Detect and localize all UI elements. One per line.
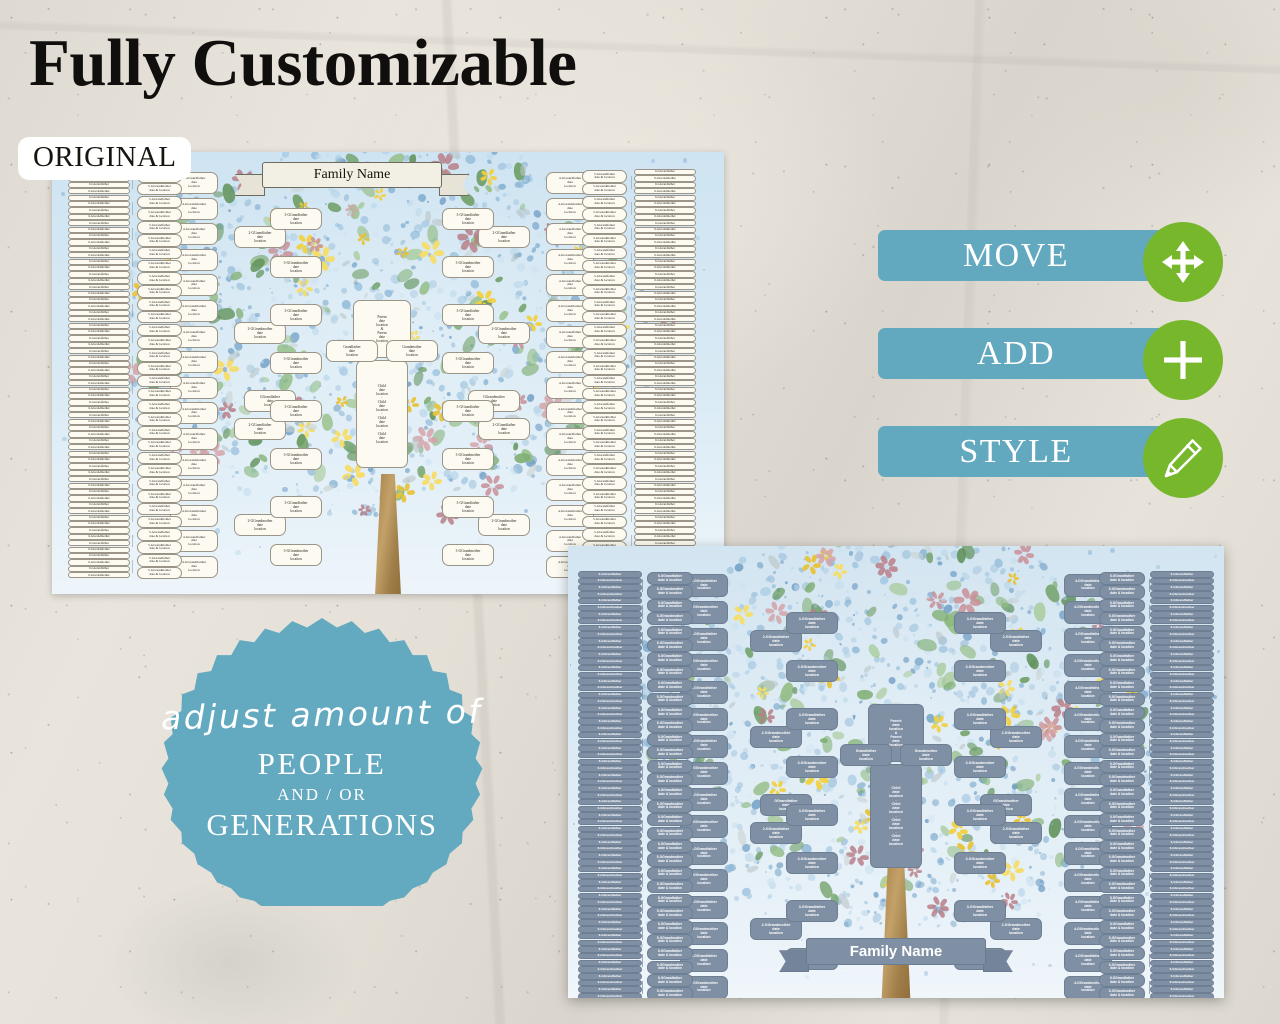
name-box[interactable]: 5-GGrandfatherdate & location — [1099, 786, 1145, 799]
name-box[interactable]: 6-GGrandmother — [578, 980, 642, 987]
name-box[interactable]: 6-GGrandfather — [68, 310, 130, 316]
name-box[interactable]: 6-GGrandfather — [68, 233, 130, 239]
name-box[interactable]: 6-GGrandfather — [1150, 651, 1214, 658]
name-box[interactable]: 6-GGrandfather — [578, 866, 642, 873]
name-box[interactable]: 6-GGrandmother — [634, 521, 696, 527]
name-box[interactable]: 5-GGrandmotherdate & location — [647, 880, 693, 893]
name-box[interactable]: 3-GGrandmotherdatelocation — [442, 448, 494, 470]
name-box[interactable]: 5-GGrandmotherdate & location — [1099, 585, 1145, 598]
name-box[interactable]: 3-GGrandfatherdatelocation — [270, 400, 322, 422]
name-box[interactable]: 6-GGrandfather — [634, 169, 696, 175]
name-box[interactable]: 6-GGrandfather — [578, 625, 642, 632]
family-tree-chart-styled[interactable]: Childdatelocation-Childdatelocation-Chil… — [568, 546, 1224, 998]
name-box[interactable]: 6-GGrandmother — [1150, 631, 1214, 638]
name-box[interactable]: 6-GGrandfather — [634, 348, 696, 354]
name-box[interactable]: 6-GGrandfather — [634, 271, 696, 277]
name-box[interactable]: 6-GGrandfather — [1150, 638, 1214, 645]
name-box[interactable]: 6-GGrandfather — [68, 297, 130, 303]
name-box[interactable]: 6-GGrandfather — [578, 571, 642, 578]
name-box[interactable]: 6-GGrandmother — [68, 316, 130, 322]
name-box[interactable]: 6-GGrandfather — [578, 678, 642, 685]
name-box[interactable]: 6-GGrandmother — [1150, 993, 1214, 998]
name-box[interactable]: 6-GGrandfather — [578, 986, 642, 993]
name-box[interactable]: 6-GGrandfather — [634, 387, 696, 393]
name-box[interactable]: 6-GGrandmother — [634, 227, 696, 233]
name-box[interactable]: 6-GGrandfather — [634, 284, 696, 290]
name-box[interactable]: 6-GGrandfather — [634, 233, 696, 239]
name-box[interactable]: 3-GGrandfatherdatelocation — [442, 400, 494, 422]
name-box[interactable]: 6-GGrandmother — [634, 278, 696, 284]
name-box[interactable]: 6-GGrandfather — [634, 515, 696, 521]
name-box[interactable]: 6-GGrandmother — [1150, 832, 1214, 839]
name-box[interactable]: 6-GGrandmother — [68, 457, 130, 463]
name-box[interactable]: 5-GGrandfatherdate & location — [1099, 867, 1145, 880]
name-box[interactable]: 6-GGrandfather — [1150, 745, 1214, 752]
name-box[interactable]: 5-GGrandfatherdate & location — [647, 572, 693, 585]
name-box[interactable]: 5-GGrandmotherdate & location — [137, 311, 182, 324]
name-box[interactable]: 6-GGrandfather — [68, 195, 130, 201]
name-box[interactable]: 5-GGrandfatherdate & location — [1099, 706, 1145, 719]
name-box[interactable]: 5-GGrandfatherdate & location — [647, 706, 693, 719]
name-box[interactable]: 5-GGrandmotherdate & location — [137, 208, 182, 221]
name-box[interactable]: 5-GGrandfatherdate & location — [582, 452, 627, 465]
name-box[interactable]: 6-GGrandmother — [634, 188, 696, 194]
name-box[interactable]: 5-GGrandmotherdate & location — [647, 800, 693, 813]
name-box[interactable]: 6-GGrandfather — [634, 451, 696, 457]
name-box[interactable]: 5-GGrandfatherdate & location — [137, 298, 182, 311]
name-box[interactable]: 6-GGrandfather — [634, 438, 696, 444]
name-box[interactable]: 6-GGrandfather — [578, 692, 642, 699]
name-box[interactable]: 5-GGrandmotherdate & location — [582, 208, 627, 221]
name-box[interactable]: 6-GGrandmother — [1150, 806, 1214, 813]
name-box[interactable]: Grandfatherdatelocation — [326, 340, 378, 362]
name-box[interactable]: 6-GGrandmother — [68, 342, 130, 348]
name-box[interactable]: 6-GGrandmother — [1150, 578, 1214, 585]
name-box[interactable]: 6-GGrandmother — [634, 431, 696, 437]
name-box[interactable]: 5-GGrandmotherdate & location — [1099, 746, 1145, 759]
name-box[interactable]: 6-GGrandmother — [1150, 859, 1214, 866]
name-box[interactable]: 5-GGrandmotherdate & location — [647, 666, 693, 679]
name-box[interactable]: 6-GGrandmother — [634, 483, 696, 489]
name-box[interactable]: 6-GGrandmother — [578, 926, 642, 933]
name-box[interactable]: 6-GGrandfather — [68, 271, 130, 277]
name-box[interactable]: 6-GGrandfather — [68, 515, 130, 521]
name-box[interactable]: 3-GGrandfatherdatelocation — [954, 708, 1006, 730]
style-button[interactable]: STYLE — [878, 426, 1168, 477]
name-box[interactable]: 5-GGrandmotherdate & location — [647, 907, 693, 920]
name-box[interactable]: 6-GGrandfather — [634, 463, 696, 469]
name-box[interactable]: 6-GGrandmother — [68, 380, 130, 386]
name-box[interactable]: 6-GGrandmother — [634, 495, 696, 501]
name-box[interactable]: 6-GGrandfather — [578, 611, 642, 618]
name-box[interactable]: 5-GGrandmotherdate & location — [1099, 666, 1145, 679]
name-box[interactable]: 6-GGrandmother — [578, 819, 642, 826]
name-box[interactable]: 5-GGrandmotherdate & location — [647, 719, 693, 732]
name-box[interactable]: 6-GGrandmother — [634, 316, 696, 322]
name-box[interactable]: 6-GGrandfather — [1150, 973, 1214, 980]
name-box[interactable]: 5-GGrandmotherdate & location — [137, 413, 182, 426]
name-box[interactable]: 6-GGrandmother — [1150, 873, 1214, 880]
name-box[interactable]: 6-GGrandmother — [1150, 591, 1214, 598]
name-box[interactable]: 6-GGrandmother — [634, 239, 696, 245]
name-box[interactable]: 5-GGrandfatherdate & location — [137, 477, 182, 490]
name-box[interactable]: 5-GGrandfatherdate & location — [647, 813, 693, 826]
name-box[interactable]: 6-GGrandmother — [578, 739, 642, 746]
family-name-banner[interactable]: Family Name — [262, 162, 442, 188]
name-box[interactable]: 6-GGrandmother — [68, 367, 130, 373]
name-box[interactable]: 6-GGrandfather — [578, 759, 642, 766]
name-box[interactable]: 6-GGrandfather — [1150, 705, 1214, 712]
name-box[interactable]: 5-GGrandfatherdate & location — [137, 554, 182, 567]
name-box[interactable]: 6-GGrandfather — [634, 489, 696, 495]
name-box[interactable]: 5-GGrandfatherdate & location — [582, 503, 627, 516]
name-box[interactable]: 6-GGrandfather — [578, 812, 642, 819]
name-box[interactable]: 6-GGrandfather — [578, 785, 642, 792]
name-box[interactable]: 6-GGrandfather — [578, 839, 642, 846]
name-box[interactable]: 6-GGrandfather — [68, 348, 130, 354]
name-box[interactable]: 3-GGrandmotherdatelocation — [442, 256, 494, 278]
name-box[interactable]: 6-GGrandmother — [634, 406, 696, 412]
name-box[interactable]: 6-GGrandfather — [68, 374, 130, 380]
name-box[interactable]: 6-GGrandmother — [1150, 940, 1214, 947]
name-box[interactable]: 6-GGrandfather — [578, 705, 642, 712]
name-box[interactable]: 5-GGrandfatherdate & location — [582, 170, 627, 183]
name-box[interactable]: 3-GGrandmotherdatelocation — [270, 544, 322, 566]
name-box[interactable]: 5-GGrandfatherdate & location — [647, 840, 693, 853]
name-box[interactable]: 5-GGrandmotherdate & location — [1099, 639, 1145, 652]
name-box[interactable]: 6-GGrandmother — [68, 521, 130, 527]
name-box[interactable]: 5-GGrandmotherdate & location — [582, 413, 627, 426]
name-box[interactable]: 5-GGrandfatherdate & location — [1099, 733, 1145, 746]
name-box[interactable]: 5-GGrandfatherdate & location — [137, 528, 182, 541]
name-box[interactable]: 6-GGrandfather — [1150, 678, 1214, 685]
name-box[interactable]: 6-GGrandmother — [634, 342, 696, 348]
name-box[interactable]: 5-GGrandfatherdate & location — [582, 272, 627, 285]
name-box[interactable]: 5-GGrandfatherdate & location — [582, 196, 627, 209]
name-box[interactable]: 6-GGrandfather — [578, 919, 642, 926]
name-box[interactable]: 6-GGrandmother — [634, 380, 696, 386]
name-box[interactable]: 6-GGrandmother — [68, 291, 130, 297]
name-box[interactable]: 6-GGrandfather — [578, 732, 642, 739]
name-box[interactable]: 3-GGrandfatherdatelocation — [954, 804, 1006, 826]
name-box[interactable]: 3-GGrandfatherdatelocation — [786, 900, 838, 922]
name-box[interactable]: 3-GGrandfatherdatelocation — [442, 208, 494, 230]
name-box[interactable]: 5-GGrandmotherdate & location — [1099, 961, 1145, 974]
name-box[interactable]: 6-GGrandfather — [68, 335, 130, 341]
name-box[interactable]: 5-GGrandmotherdate & location — [1099, 773, 1145, 786]
name-box[interactable]: 6-GGrandfather — [1150, 812, 1214, 819]
name-box[interactable]: 5-GGrandmotherdate & location — [647, 612, 693, 625]
name-box[interactable]: Grandmotherdatelocation — [900, 744, 952, 766]
name-box[interactable]: 5-GGrandfatherdate & location — [137, 375, 182, 388]
name-box[interactable]: 6-GGrandmother — [578, 672, 642, 679]
name-box[interactable]: 6-GGrandmother — [68, 188, 130, 194]
name-box[interactable]: 5-GGrandmotherdate & location — [582, 285, 627, 298]
name-box[interactable]: 3-GGrandmotherdatelocation — [786, 852, 838, 874]
name-box[interactable]: 6-GGrandmother — [578, 792, 642, 799]
name-box[interactable]: 5-GGrandmotherdate & location — [647, 746, 693, 759]
name-box[interactable]: 6-GGrandfather — [68, 502, 130, 508]
name-box[interactable]: 6-GGrandmother — [578, 993, 642, 998]
name-box[interactable]: 6-GGrandmother — [68, 201, 130, 207]
name-box[interactable]: 5-GGrandmotherdate & location — [1099, 612, 1145, 625]
name-box[interactable]: 6-GGrandfather — [634, 259, 696, 265]
name-box[interactable]: 6-GGrandfather — [1150, 772, 1214, 779]
name-box[interactable]: 5-GGrandmotherdate & location — [137, 567, 182, 580]
name-box[interactable]: 6-GGrandmother — [578, 899, 642, 906]
name-box[interactable]: 5-GGrandfatherdate & location — [137, 349, 182, 362]
name-box[interactable]: 6-GGrandfather — [1150, 759, 1214, 766]
name-box[interactable]: 3-GGrandfatherdatelocation — [270, 208, 322, 230]
name-box[interactable]: 6-GGrandfather — [68, 553, 130, 559]
name-box[interactable]: 5-GGrandfatherdate & location — [647, 947, 693, 960]
name-box[interactable]: 6-GGrandmother — [1150, 605, 1214, 612]
name-box[interactable]: 5-GGrandmotherdate & location — [582, 260, 627, 273]
name-box[interactable]: Grandmotherdatelocation — [386, 340, 438, 362]
name-box[interactable]: 5-GGrandmotherdate & location — [137, 260, 182, 273]
plus-icon[interactable] — [1143, 320, 1223, 400]
name-box[interactable]: 6-GGrandmother — [634, 252, 696, 258]
name-box[interactable]: 6-GGrandmother — [634, 291, 696, 297]
name-box[interactable]: 6-GGrandfather — [1150, 933, 1214, 940]
name-box[interactable]: 5-GGrandfatherdate & location — [582, 477, 627, 490]
name-box[interactable]: 5-GGrandfatherdate & location — [647, 867, 693, 880]
name-box[interactable]: 6-GGrandfather — [68, 182, 130, 188]
name-box[interactable]: 6-GGrandfather — [1150, 718, 1214, 725]
name-box[interactable]: 6-GGrandmother — [68, 265, 130, 271]
name-box[interactable]: 6-GGrandmother — [634, 444, 696, 450]
name-box[interactable]: 6-GGrandmother — [1150, 618, 1214, 625]
name-box[interactable]: 5-GGrandfatherdate & location — [1099, 920, 1145, 933]
name-box[interactable]: 3-GGrandmotherdatelocation — [954, 852, 1006, 874]
name-box[interactable]: 5-GGrandfatherdate & location — [1099, 760, 1145, 773]
name-box[interactable]: 6-GGrandfather — [634, 297, 696, 303]
name-box[interactable]: 6-GGrandmother — [578, 685, 642, 692]
name-box[interactable]: 3-GGrandfatherdatelocation — [442, 496, 494, 518]
name-box[interactable]: 6-GGrandfather — [578, 906, 642, 913]
name-box[interactable]: 5-GGrandfatherdate & location — [137, 426, 182, 439]
name-box[interactable]: 6-GGrandmother — [578, 631, 642, 638]
name-box[interactable]: 5-GGrandfatherdate & location — [647, 733, 693, 746]
name-box[interactable]: 6-GGrandmother — [68, 393, 130, 399]
name-box[interactable]: 5-GGrandfatherdate & location — [582, 298, 627, 311]
name-box[interactable]: 6-GGrandmother — [578, 779, 642, 786]
name-box[interactable]: 6-GGrandfather — [578, 960, 642, 967]
name-box[interactable]: 6-GGrandfather — [634, 310, 696, 316]
name-box[interactable]: 5-GGrandfatherdate & location — [1099, 626, 1145, 639]
name-box[interactable]: 6-GGrandfather — [578, 772, 642, 779]
name-box[interactable]: 6-GGrandfather — [634, 412, 696, 418]
name-box[interactable]: 5-GGrandfatherdate & location — [137, 196, 182, 209]
name-box[interactable]: 5-GGrandmotherdate & location — [1099, 880, 1145, 893]
name-box[interactable]: 6-GGrandfather — [68, 207, 130, 213]
name-box[interactable]: 6-GGrandmother — [68, 495, 130, 501]
name-box[interactable]: 5-GGrandmotherdate & location — [1099, 934, 1145, 947]
name-box[interactable]: 3-GGrandmotherdatelocation — [954, 660, 1006, 682]
name-box[interactable]: 6-GGrandmother — [1150, 739, 1214, 746]
name-box[interactable]: 6-GGrandfather — [68, 540, 130, 546]
name-box[interactable]: 6-GGrandfather — [634, 502, 696, 508]
name-box[interactable]: 6-GGrandfather — [578, 946, 642, 953]
name-box[interactable]: 6-GGrandmother — [68, 547, 130, 553]
name-box[interactable]: 6-GGrandmother — [1150, 886, 1214, 893]
name-box[interactable]: 6-GGrandmother — [634, 457, 696, 463]
name-box[interactable]: 5-GGrandfatherdate & location — [1099, 894, 1145, 907]
name-box[interactable]: 5-GGrandmotherdate & location — [1099, 907, 1145, 920]
name-box[interactable]: 5-GGrandmotherdate & location — [582, 183, 627, 196]
name-box[interactable]: Grandfatherdatelocation — [840, 744, 892, 766]
name-box[interactable]: 6-GGrandmother — [578, 765, 642, 772]
name-box[interactable]: 6-GGrandmother — [1150, 953, 1214, 960]
name-box[interactable]: 6-GGrandfather — [1150, 625, 1214, 632]
name-box[interactable]: 6-GGrandfather — [1150, 893, 1214, 900]
name-box[interactable]: 5-GGrandfatherdate & location — [647, 679, 693, 692]
name-box[interactable]: 6-GGrandmother — [578, 966, 642, 973]
name-box[interactable]: 3-GGrandfatherdatelocation — [954, 612, 1006, 634]
name-box[interactable]: 5-GGrandfatherdate & location — [647, 894, 693, 907]
name-box[interactable]: 5-GGrandmotherdate & location — [647, 987, 693, 998]
name-box[interactable]: 5-GGrandmotherdate & location — [647, 693, 693, 706]
name-box[interactable]: 6-GGrandmother — [634, 265, 696, 271]
name-box[interactable]: 6-GGrandfather — [634, 220, 696, 226]
name-box[interactable]: 6-GGrandmother — [68, 431, 130, 437]
name-box[interactable]: 5-GGrandfatherdate & location — [137, 324, 182, 337]
name-box[interactable]: 6-GGrandmother — [634, 201, 696, 207]
name-box[interactable]: 6-GGrandmother — [634, 534, 696, 540]
name-box[interactable]: 6-GGrandmother — [578, 618, 642, 625]
name-box[interactable]: 6-GGrandmother — [68, 214, 130, 220]
name-box[interactable]: 6-GGrandmother — [68, 419, 130, 425]
name-box[interactable]: 6-GGrandmother — [578, 712, 642, 719]
name-box[interactable]: 5-GGrandmotherdate & location — [137, 183, 182, 196]
name-box[interactable]: 5-GGrandmotherdate & location — [1099, 827, 1145, 840]
name-box[interactable]: 6-GGrandmother — [1150, 926, 1214, 933]
name-box[interactable]: 3-GGrandfatherdatelocation — [270, 304, 322, 326]
family-tree-chart-original[interactable]: Childdatelocation-Childdatelocation-Chil… — [52, 152, 724, 594]
name-box[interactable]: 6-GGrandfather — [634, 399, 696, 405]
name-box[interactable]: 5-GGrandmotherdate & location — [1099, 987, 1145, 998]
name-box[interactable]: 5-GGrandfatherdate & location — [1099, 572, 1145, 585]
name-box[interactable]: 5-GGrandmotherdate & location — [647, 853, 693, 866]
name-box[interactable]: 6-GGrandmother — [1150, 846, 1214, 853]
add-button[interactable]: ADD — [878, 328, 1168, 379]
name-box[interactable]: 5-GGrandmotherdate & location — [137, 285, 182, 298]
name-box[interactable]: 6-GGrandfather — [578, 638, 642, 645]
name-box[interactable]: 6-GGrandmother — [68, 559, 130, 565]
name-box[interactable]: 6-GGrandmother — [634, 303, 696, 309]
name-box[interactable]: 6-GGrandfather — [68, 476, 130, 482]
name-box[interactable]: 6-GGrandmother — [1150, 685, 1214, 692]
name-box[interactable]: 5-GGrandmotherdate & location — [647, 585, 693, 598]
pencil-icon[interactable] — [1143, 418, 1223, 498]
name-box[interactable]: 6-GGrandfather — [1150, 906, 1214, 913]
name-box[interactable]: 6-GGrandmother — [634, 419, 696, 425]
name-box[interactable]: 6-GGrandfather — [578, 826, 642, 833]
name-box[interactable]: 5-GGrandfatherdate & location — [647, 786, 693, 799]
name-box[interactable]: 6-GGrandfather — [634, 195, 696, 201]
name-box[interactable]: 6-GGrandmother — [578, 605, 642, 612]
name-box[interactable]: 6-GGrandmother — [578, 645, 642, 652]
name-box[interactable]: 5-GGrandfatherdate & location — [582, 247, 627, 260]
name-box[interactable]: 5-GGrandfatherdate & location — [137, 503, 182, 516]
name-box[interactable]: 6-GGrandfather — [68, 438, 130, 444]
name-box[interactable]: 6-GGrandmother — [1150, 792, 1214, 799]
name-box[interactable]: 6-GGrandmother — [578, 940, 642, 947]
name-box[interactable]: 5-GGrandfatherdate & location — [137, 400, 182, 413]
name-box[interactable]: 5-GGrandmotherdate & location — [1099, 800, 1145, 813]
name-box[interactable]: 6-GGrandmother — [1150, 980, 1214, 987]
name-box[interactable]: 6-GGrandfather — [1150, 611, 1214, 618]
name-box[interactable]: 6-GGrandfather — [68, 425, 130, 431]
name-box[interactable]: 6-GGrandfather — [68, 566, 130, 572]
name-box[interactable]: 6-GGrandfather — [578, 933, 642, 940]
name-box[interactable]: 6-GGrandmother — [1150, 658, 1214, 665]
name-box[interactable]: 6-GGrandmother — [634, 214, 696, 220]
name-box[interactable]: 6-GGrandfather — [1150, 584, 1214, 591]
name-box[interactable]: 5-GGrandmotherdate & location — [647, 639, 693, 652]
name-box[interactable]: 5-GGrandmotherdate & location — [137, 439, 182, 452]
name-box[interactable]: 6-GGrandmother — [578, 886, 642, 893]
name-box[interactable]: 6-GGrandmother — [634, 329, 696, 335]
name-box[interactable]: 6-GGrandmother — [68, 355, 130, 361]
name-box[interactable]: 6-GGrandfather — [578, 799, 642, 806]
name-box[interactable]: 5-GGrandmotherdate & location — [137, 541, 182, 554]
name-box[interactable]: 6-GGrandfather — [1150, 826, 1214, 833]
name-box[interactable]: 5-GGrandmotherdate & location — [137, 362, 182, 375]
name-box[interactable]: 5-GGrandfatherdate & location — [647, 626, 693, 639]
name-box[interactable]: 6-GGrandfather — [1150, 866, 1214, 873]
name-box[interactable]: 3-GGrandfatherdatelocation — [954, 900, 1006, 922]
name-box[interactable]: 5-GGrandmotherdate & location — [582, 464, 627, 477]
name-box[interactable]: 6-GGrandfather — [1150, 598, 1214, 605]
name-box[interactable]: 5-GGrandmotherdate & location — [137, 234, 182, 247]
name-box[interactable]: 5-GGrandfatherdate & location — [137, 221, 182, 234]
name-box[interactable]: 6-GGrandmother — [1150, 819, 1214, 826]
name-box[interactable]: 6-GGrandfather — [634, 207, 696, 213]
name-box[interactable]: 6-GGrandmother — [634, 367, 696, 373]
name-box[interactable]: 6-GGrandmother — [1150, 779, 1214, 786]
name-box[interactable]: 5-GGrandmotherdate & location — [1099, 853, 1145, 866]
name-box[interactable]: 5-GGrandfatherdate & location — [582, 375, 627, 388]
name-box[interactable]: 5-GGrandmotherdate & location — [137, 516, 182, 529]
name-box[interactable]: 6-GGrandfather — [634, 527, 696, 533]
name-box[interactable]: 6-GGrandmother — [68, 483, 130, 489]
name-box[interactable]: 5-GGrandmotherdate & location — [582, 336, 627, 349]
name-box[interactable]: 3-GGrandmotherdatelocation — [954, 756, 1006, 778]
name-box[interactable]: 5-GGrandfatherdate & location — [137, 452, 182, 465]
name-box[interactable]: 6-GGrandfather — [68, 451, 130, 457]
name-box[interactable]: 6-GGrandfather — [578, 973, 642, 980]
name-box[interactable]: 5-GGrandfatherdate & location — [647, 599, 693, 612]
name-box[interactable]: 6-GGrandmother — [1150, 698, 1214, 705]
name-box[interactable]: 3-GGrandmotherdatelocation — [442, 544, 494, 566]
name-box[interactable]: 6-GGrandmother — [578, 913, 642, 920]
name-box[interactable]: 5-GGrandmotherdate & location — [137, 336, 182, 349]
name-box[interactable]: 6-GGrandfather — [1150, 665, 1214, 672]
name-box[interactable]: 6-GGrandmother — [1150, 966, 1214, 973]
name-box[interactable]: 5-GGrandfatherdate & location — [647, 974, 693, 987]
name-box[interactable]: 6-GGrandmother — [578, 591, 642, 598]
name-box[interactable]: 6-GGrandfather — [1150, 946, 1214, 953]
name-box[interactable]: 6-GGrandfather — [1150, 692, 1214, 699]
name-box[interactable]: 6-GGrandmother — [634, 355, 696, 361]
name-box[interactable]: 6-GGrandfather — [68, 246, 130, 252]
name-box[interactable]: 3-GGrandmotherdatelocation — [270, 448, 322, 470]
name-box[interactable]: 5-GGrandmotherdate & location — [582, 516, 627, 529]
name-box[interactable]: 5-GGrandmotherdate & location — [1099, 719, 1145, 732]
name-box[interactable]: 5-GGrandfatherdate & location — [1099, 974, 1145, 987]
name-box[interactable]: 5-GGrandmotherdate & location — [647, 934, 693, 947]
